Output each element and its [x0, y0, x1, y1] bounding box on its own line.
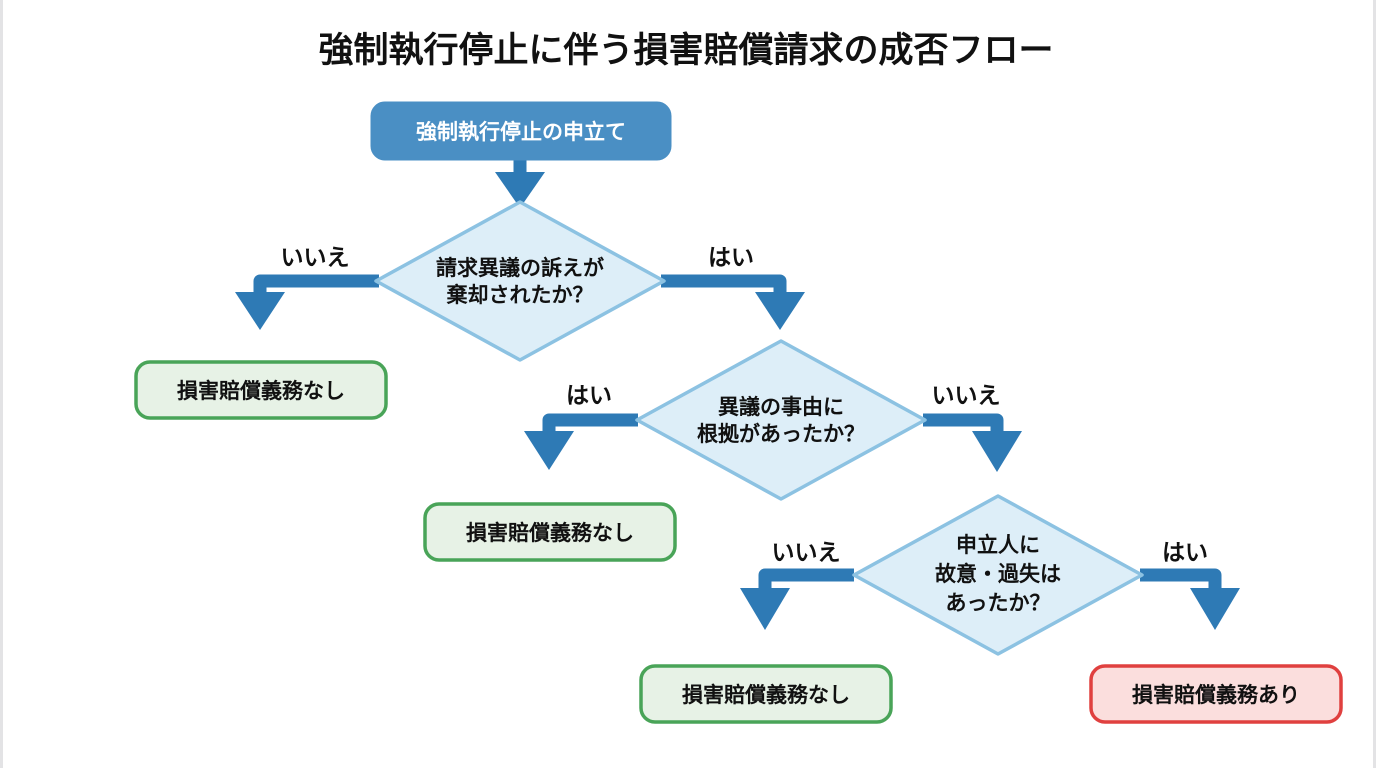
start-node-label: 強制執行停止の申立て	[416, 120, 626, 144]
node-outcome-no-liability-1[interactable]: 損害賠償義務なし	[136, 362, 386, 418]
node-outcome-no-liability-2[interactable]: 損害賠償義務なし	[425, 504, 675, 560]
node-decision-objection-grounds[interactable]: 異議の事由に 根拠があったか？	[637, 341, 925, 499]
decision2-label-line1: 異議の事由に	[718, 395, 844, 419]
edge-label-decision3-yes: はい	[1162, 539, 1208, 565]
decision1-shape	[376, 202, 664, 360]
outcome4-label: 損害賠償義務あり	[1132, 683, 1300, 707]
decision3-label-line2: 故意・過失は	[935, 562, 1061, 586]
flowchart-svg: 強制執行停止に伴う損害賠償請求の成否フロー	[3, 0, 1376, 768]
decision2-shape	[637, 341, 925, 499]
edge-label-decision2-no: いいえ	[932, 382, 1001, 408]
connector-decision2-yes	[524, 420, 638, 470]
page-title: 強制執行停止に伴う損害賠償請求の成否フロー	[318, 30, 1053, 70]
node-outcome-no-liability-3[interactable]: 損害賠償義務なし	[641, 666, 891, 722]
decision3-label-line1: 申立人に	[956, 533, 1040, 557]
decision2-label-line2: 根拠があったか？	[697, 422, 865, 446]
connector-decision3-no	[740, 575, 854, 630]
edge-label-decision1-no: いいえ	[281, 244, 350, 270]
connector-decision1-yes	[661, 281, 805, 330]
connector-decision3-yes	[1140, 575, 1240, 630]
connector-decision2-no	[923, 420, 1022, 472]
node-outcome-liability[interactable]: 損害賠償義務あり	[1091, 666, 1341, 722]
connector-decision1-no	[235, 281, 379, 330]
outcome3-label: 損害賠償義務なし	[682, 683, 850, 707]
decision1-label-line1: 請求異議の訴えが	[436, 256, 604, 280]
edge-label-decision2-yes: はい	[566, 382, 612, 408]
edge-label-decision1-yes: はい	[708, 244, 754, 270]
outcome2-label: 損害賠償義務なし	[466, 521, 634, 545]
node-decision-applicant-fault[interactable]: 申立人に 故意・過失は あったか？	[854, 496, 1142, 654]
decision1-label-line2: 棄却されたか？	[447, 283, 594, 307]
outcome1-label: 損害賠償義務なし	[177, 379, 345, 403]
node-start[interactable]: 強制執行停止の申立て	[371, 102, 671, 160]
flowchart-canvas: 強制執行停止に伴う損害賠償請求の成否フロー	[0, 0, 1376, 768]
decision3-label-line3: あったか？	[946, 592, 1051, 615]
edge-label-decision3-no: いいえ	[772, 539, 841, 565]
node-decision-claim-objection-dismissed[interactable]: 請求異議の訴えが 棄却されたか？	[376, 202, 664, 360]
